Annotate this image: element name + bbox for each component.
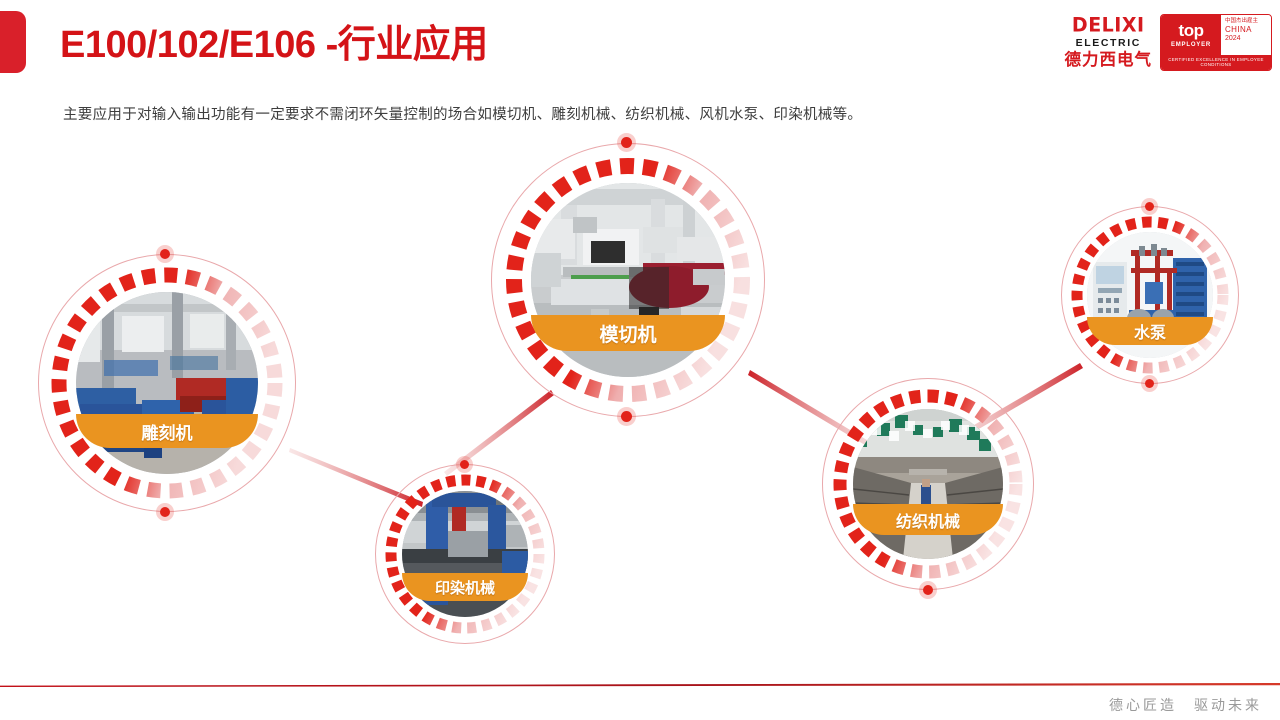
- top-employer-main: top EMPLOYER 中国杰出雇主 CHINA 2024: [1161, 15, 1271, 55]
- top-employer-info: 中国杰出雇主 CHINA 2024: [1221, 15, 1271, 55]
- node-textile-label: 纺织机械: [853, 504, 1003, 535]
- node-diecut-dot-top: [621, 137, 632, 148]
- top-employer-badge: top EMPLOYER 中国杰出雇主 CHINA 2024 CERTIFIED…: [1160, 14, 1272, 71]
- slide-root: E100/102/E106 -行业应用 主要应用于对输入输出功能有一定要求不需闭…: [0, 0, 1280, 720]
- page-title-topic: 行业应用: [338, 24, 488, 66]
- title-accent-bar: [0, 11, 26, 73]
- node-waterpump-dot-bottom: [1145, 379, 1154, 388]
- node-printdye-label: 印染机械: [402, 573, 528, 601]
- node-printdye[interactable]: 印染机械: [375, 464, 555, 644]
- node-waterpump-label: 水泵: [1087, 317, 1213, 345]
- footer-divider: [0, 683, 1280, 687]
- application-diagram: 雕刻机: [0, 130, 1280, 650]
- node-diecut-label: 模切机: [531, 315, 725, 351]
- node-engraving-dot-bottom: [160, 507, 170, 517]
- top-employer-mark: top EMPLOYER: [1161, 15, 1221, 55]
- node-textile-label-text: 纺织机械: [896, 508, 960, 532]
- node-waterpump[interactable]: 水泵: [1061, 206, 1239, 384]
- delixi-subtitle: ELECTRIC: [1076, 38, 1141, 49]
- page-title: E100/102/E106 -行业应用: [60, 20, 488, 70]
- node-engraving[interactable]: 雕刻机: [38, 254, 296, 512]
- node-textile[interactable]: 纺织机械: [822, 378, 1034, 590]
- top-employer-certification: CERTIFIED EXCELLENCE IN EMPLOYEE CONDITI…: [1161, 55, 1271, 70]
- page-title-code: E100/102/E106: [60, 24, 316, 66]
- delixi-wordmark: DELIXI: [1072, 16, 1145, 36]
- delixi-chinese-name: 德力西电气: [1065, 52, 1153, 69]
- page-subtitle: 主要应用于对输入输出功能有一定要求不需闭环矢量控制的场合如模切机、雕刻机械、纺织…: [63, 103, 862, 124]
- top-employer-year: 2024: [1225, 35, 1271, 44]
- footer-slogan: 德心匠造 驱动未来: [1109, 695, 1262, 715]
- node-diecut-dot-bottom: [621, 411, 632, 422]
- delixi-logo: DELIXI ELECTRIC 德力西电气: [1065, 16, 1153, 68]
- node-diecut-label-text: 模切机: [599, 320, 656, 347]
- node-diecut[interactable]: 模切机: [491, 143, 765, 417]
- node-engraving-dot-top: [160, 249, 170, 259]
- top-employer-cn: 中国杰出雇主: [1225, 18, 1271, 25]
- node-engraving-label: 雕刻机: [76, 414, 258, 448]
- top-employer-top-word: top: [1179, 22, 1204, 39]
- node-printdye-label-text: 印染机械: [435, 577, 495, 598]
- node-engraving-label-text: 雕刻机: [142, 419, 193, 444]
- node-textile-dot-bottom: [923, 585, 933, 595]
- top-employer-employer-word: EMPLOYER: [1171, 42, 1211, 48]
- node-printdye-dot-top: [460, 460, 469, 469]
- page-title-separator: -: [316, 24, 338, 66]
- node-textile-photo: [853, 409, 1003, 559]
- node-waterpump-dot-top: [1145, 202, 1154, 211]
- brand-logos: DELIXI ELECTRIC 德力西电气 top EMPLOYER 中国杰出雇…: [1065, 14, 1273, 71]
- node-waterpump-label-text: 水泵: [1134, 319, 1166, 343]
- top-employer-country: CHINA: [1225, 25, 1271, 35]
